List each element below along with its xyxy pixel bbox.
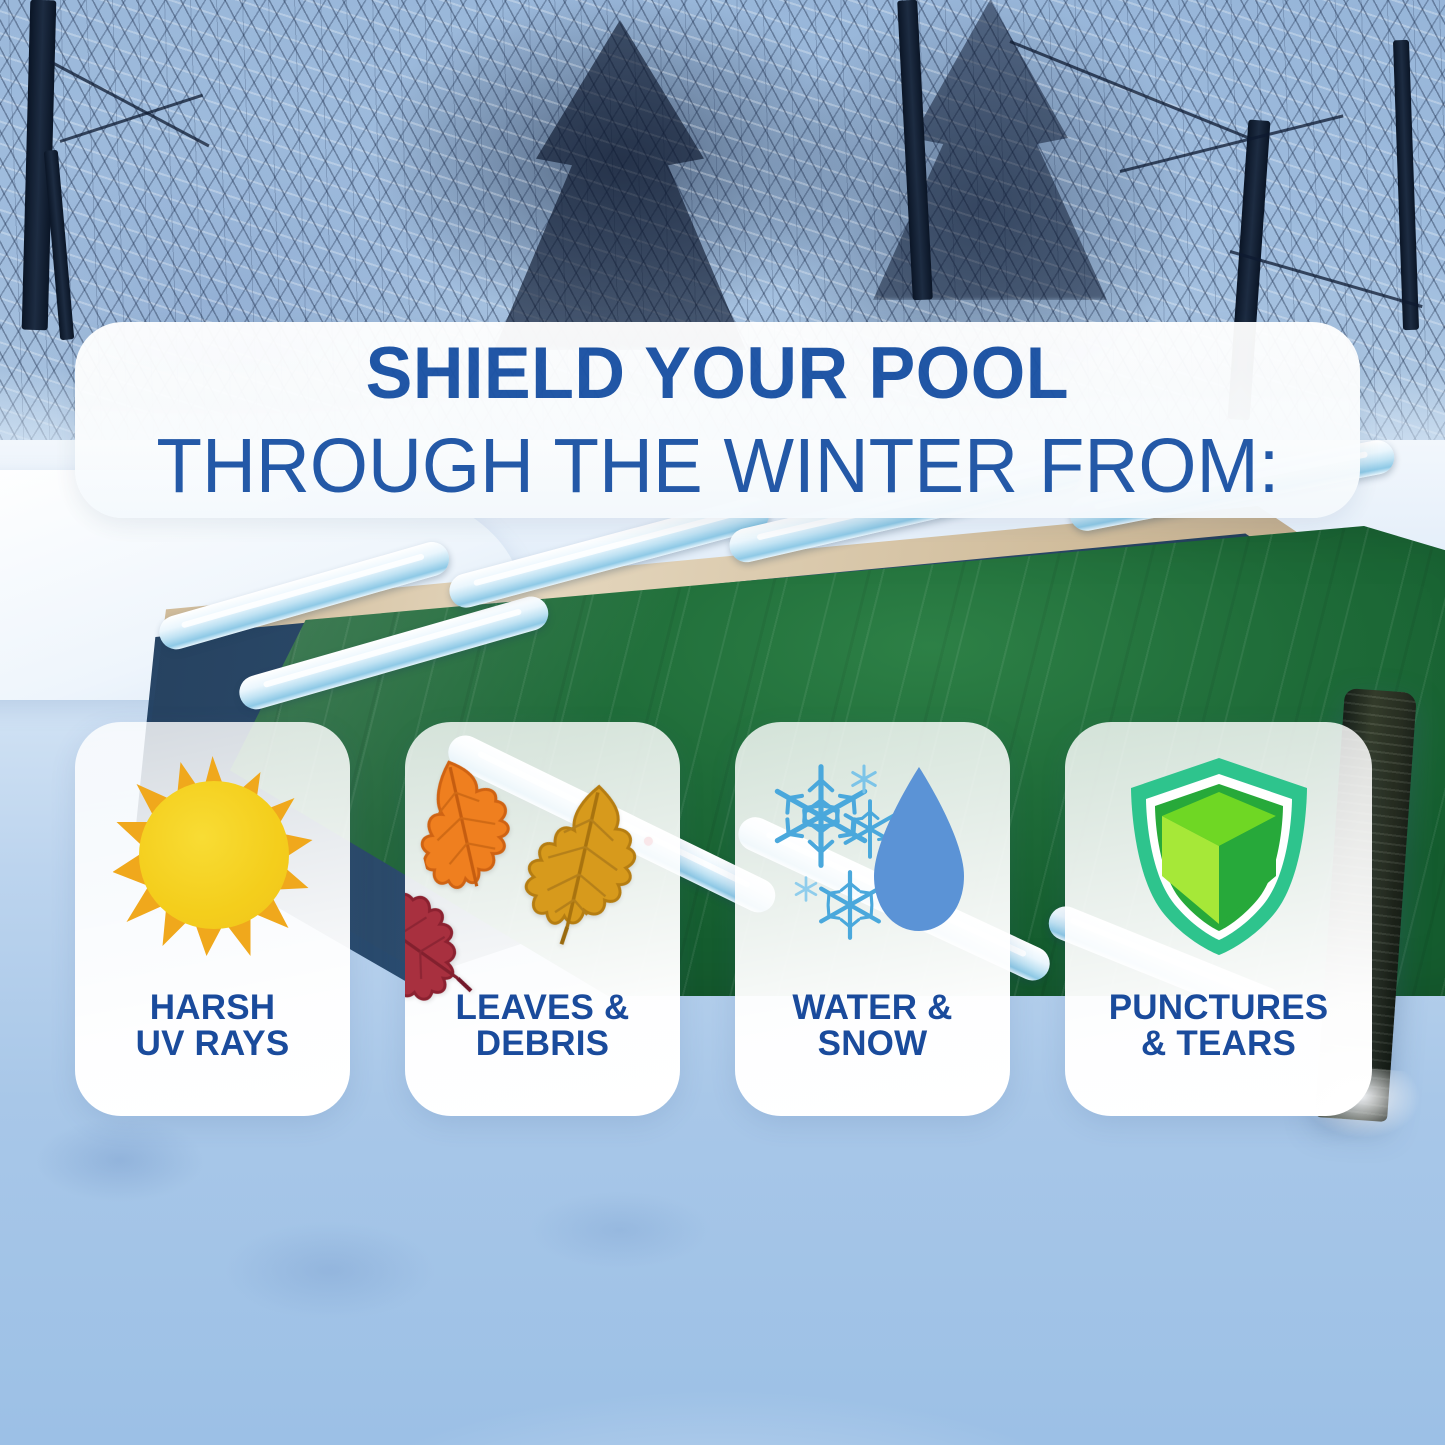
bare-branch — [60, 94, 204, 143]
feature-label-uv-rays: HARSH UV RAYS — [136, 990, 290, 1063]
feature-card-uv-rays[interactable]: HARSH UV RAYS — [75, 722, 350, 1116]
conifer-tree — [470, 20, 770, 350]
snowflake-water-drop-icon — [765, 756, 980, 956]
leaf-golden — [511, 769, 654, 958]
bare-branch — [1120, 114, 1344, 173]
sun-icon-wrap — [75, 722, 350, 990]
sun-core — [139, 781, 289, 929]
promo-graphic: SHIELD YOUR POOL THROUGH THE WINTER FROM… — [0, 0, 1445, 1445]
feature-card-leaves-debris[interactable]: LEAVES & DEBRIS — [405, 722, 680, 1116]
tree-trunk — [1393, 40, 1419, 330]
shield-icon-wrap — [1065, 722, 1372, 990]
water-drop-icon — [858, 764, 980, 941]
feature-label-leaves-debris: LEAVES & DEBRIS — [455, 990, 629, 1063]
sun-icon — [113, 756, 313, 956]
headline-line-2: THROUGH THE WINTER FROM: — [156, 428, 1279, 505]
snow-water-icon-wrap — [735, 722, 1010, 990]
headline-line-1: SHIELD YOUR POOL — [366, 337, 1069, 410]
headline-banner: SHIELD YOUR POOL THROUGH THE WINTER FROM… — [75, 322, 1360, 518]
feature-card-punctures-tears[interactable]: PUNCTURES & TEARS — [1065, 722, 1372, 1116]
shield-cube-icon — [1124, 754, 1314, 959]
autumn-leaves-icon — [438, 751, 648, 961]
feature-card-water-snow[interactable]: WATER & SNOW — [735, 722, 1010, 1116]
feature-card-row: HARSH UV RAYS — [75, 722, 1372, 1116]
leaves-icon-wrap — [405, 722, 680, 990]
bare-branch — [49, 60, 209, 147]
feature-label-water-snow: WATER & SNOW — [792, 990, 952, 1063]
feature-label-punctures-tears: PUNCTURES & TEARS — [1109, 990, 1329, 1063]
snowflake-sparkle — [791, 874, 821, 909]
leaf-orange — [405, 746, 530, 915]
